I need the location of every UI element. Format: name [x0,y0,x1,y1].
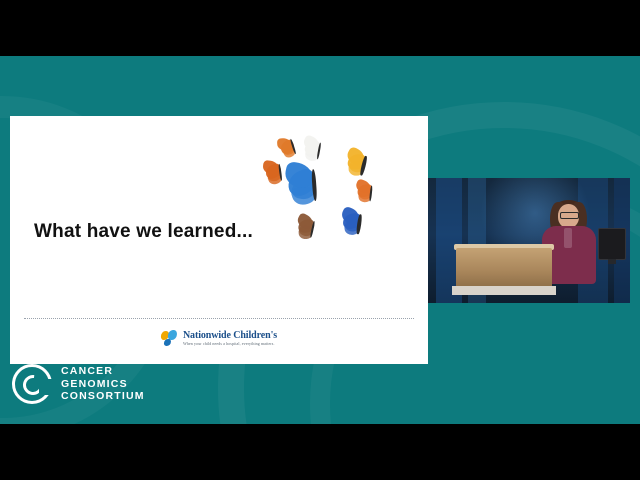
nationwide-childrens-logo: Nationwide Children's When your child ne… [161,330,277,347]
presentation-slide: What have we learned... Nationwide Child… [10,116,428,364]
nationwide-childrens-butterfly-mark-icon [161,330,178,347]
podium [456,248,552,288]
slide-logo-wordmark: Nationwide Children's [183,331,277,341]
speaker-lanyard [564,228,572,248]
cgc-logo-line-2: GENOMICS [61,378,145,391]
slide-divider [24,318,414,319]
slide-logo-tagline: When your child needs a hospital, everyt… [183,342,277,346]
cgc-logo-line-1: CANCER [61,365,145,378]
speaker-video-inset [428,178,630,303]
butterfly-cluster-artwork [258,138,410,268]
stage-monitor [598,228,626,260]
glasses-icon [560,212,579,219]
video-frame: What have we learned... Nationwide Child… [0,0,640,480]
letterbox-top [0,0,640,56]
cgc-circle-mark-icon [12,364,52,404]
cgc-logo-line-3: CONSORTIUM [61,390,145,403]
podium-base [452,286,556,295]
cancer-genomics-consortium-logo: CANCER GENOMICS CONSORTIUM [12,364,145,404]
letterbox-bottom [0,424,640,480]
slide-title: What have we learned... [34,221,253,243]
